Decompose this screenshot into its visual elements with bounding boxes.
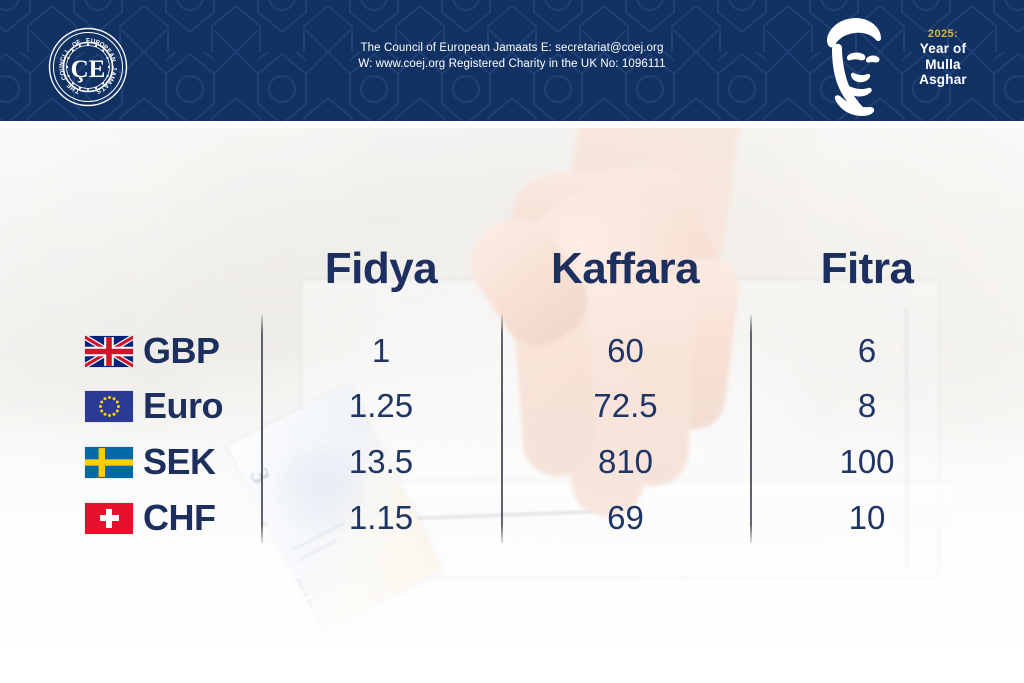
year-of-mulla-asghar-badge: 2025: Year of Mulla Asghar xyxy=(816,14,986,114)
cell-kaffara: 69 xyxy=(501,490,750,546)
cell-kaffara: 810 xyxy=(501,434,750,490)
flag-se-icon xyxy=(85,447,133,478)
currency-label: GBP xyxy=(143,333,220,369)
year-number: 2025: xyxy=(900,28,986,41)
year-line-3: Asghar xyxy=(900,72,986,88)
column-header-fitra: Fitra xyxy=(750,244,984,294)
contact-text: The Council of European Jamaats E: secre… xyxy=(358,40,665,72)
swiss-cross xyxy=(100,515,119,521)
currency-cell: CHF xyxy=(60,490,255,546)
currency-label: SEK xyxy=(143,444,216,480)
table-row: Euro 1.25 72.5 8 xyxy=(0,378,1024,434)
contact-line-2: W: www.coej.org Registered Charity in th… xyxy=(358,56,665,72)
cell-fitra: 10 xyxy=(750,490,984,546)
flag-uk-icon xyxy=(85,336,133,367)
year-line-1: Year of xyxy=(900,41,986,57)
eu-stars xyxy=(100,397,119,416)
seal-ring-text: THE COUNCIL OF EUROPEAN JAMAATS xyxy=(48,27,128,107)
currency-cell: SEK xyxy=(60,434,255,490)
flag-eu-icon xyxy=(85,391,133,422)
cell-fidya: 1.25 xyxy=(261,378,501,434)
currency-cell: GBP xyxy=(60,323,255,379)
cell-fidya: 13.5 xyxy=(261,434,501,490)
flag-ch-icon xyxy=(85,503,133,534)
rates-table: Fidya Kaffara Fitra GBP 1 xyxy=(0,128,1024,683)
year-badge-text: 2025: Year of Mulla Asghar xyxy=(900,28,986,88)
cell-fidya: 1.15 xyxy=(261,490,501,546)
contact-line-1: The Council of European Jamaats E: secre… xyxy=(358,40,665,56)
year-line-2: Mulla xyxy=(900,57,986,73)
coej-seal-logo: ÇE THE COUNCIL OF EUROPEAN JAMAATS xyxy=(48,27,128,107)
table-row: GBP 1 60 6 xyxy=(0,323,1024,379)
column-header-kaffara: Kaffara xyxy=(500,244,750,294)
cell-kaffara: 60 xyxy=(501,323,750,379)
header-band: ÇE THE COUNCIL OF EUROPEAN JAMAATS The C… xyxy=(0,0,1024,121)
poster: 3 PIAH xyxy=(0,0,1024,683)
column-header-fidya: Fidya xyxy=(260,244,502,294)
cell-kaffara: 72.5 xyxy=(501,378,750,434)
cell-fidya: 1 xyxy=(261,323,501,379)
cell-fitra: 8 xyxy=(750,378,984,434)
currency-label: Euro xyxy=(143,388,223,424)
table-row: SEK 13.5 810 100 xyxy=(0,434,1024,490)
table-row: CHF 1.15 69 10 xyxy=(0,490,1024,546)
currency-label: CHF xyxy=(143,500,216,536)
cell-fitra: 6 xyxy=(750,323,984,379)
cell-fitra: 100 xyxy=(750,434,984,490)
currency-cell: Euro xyxy=(60,378,255,434)
mulla-asghar-portrait-icon xyxy=(816,16,894,116)
